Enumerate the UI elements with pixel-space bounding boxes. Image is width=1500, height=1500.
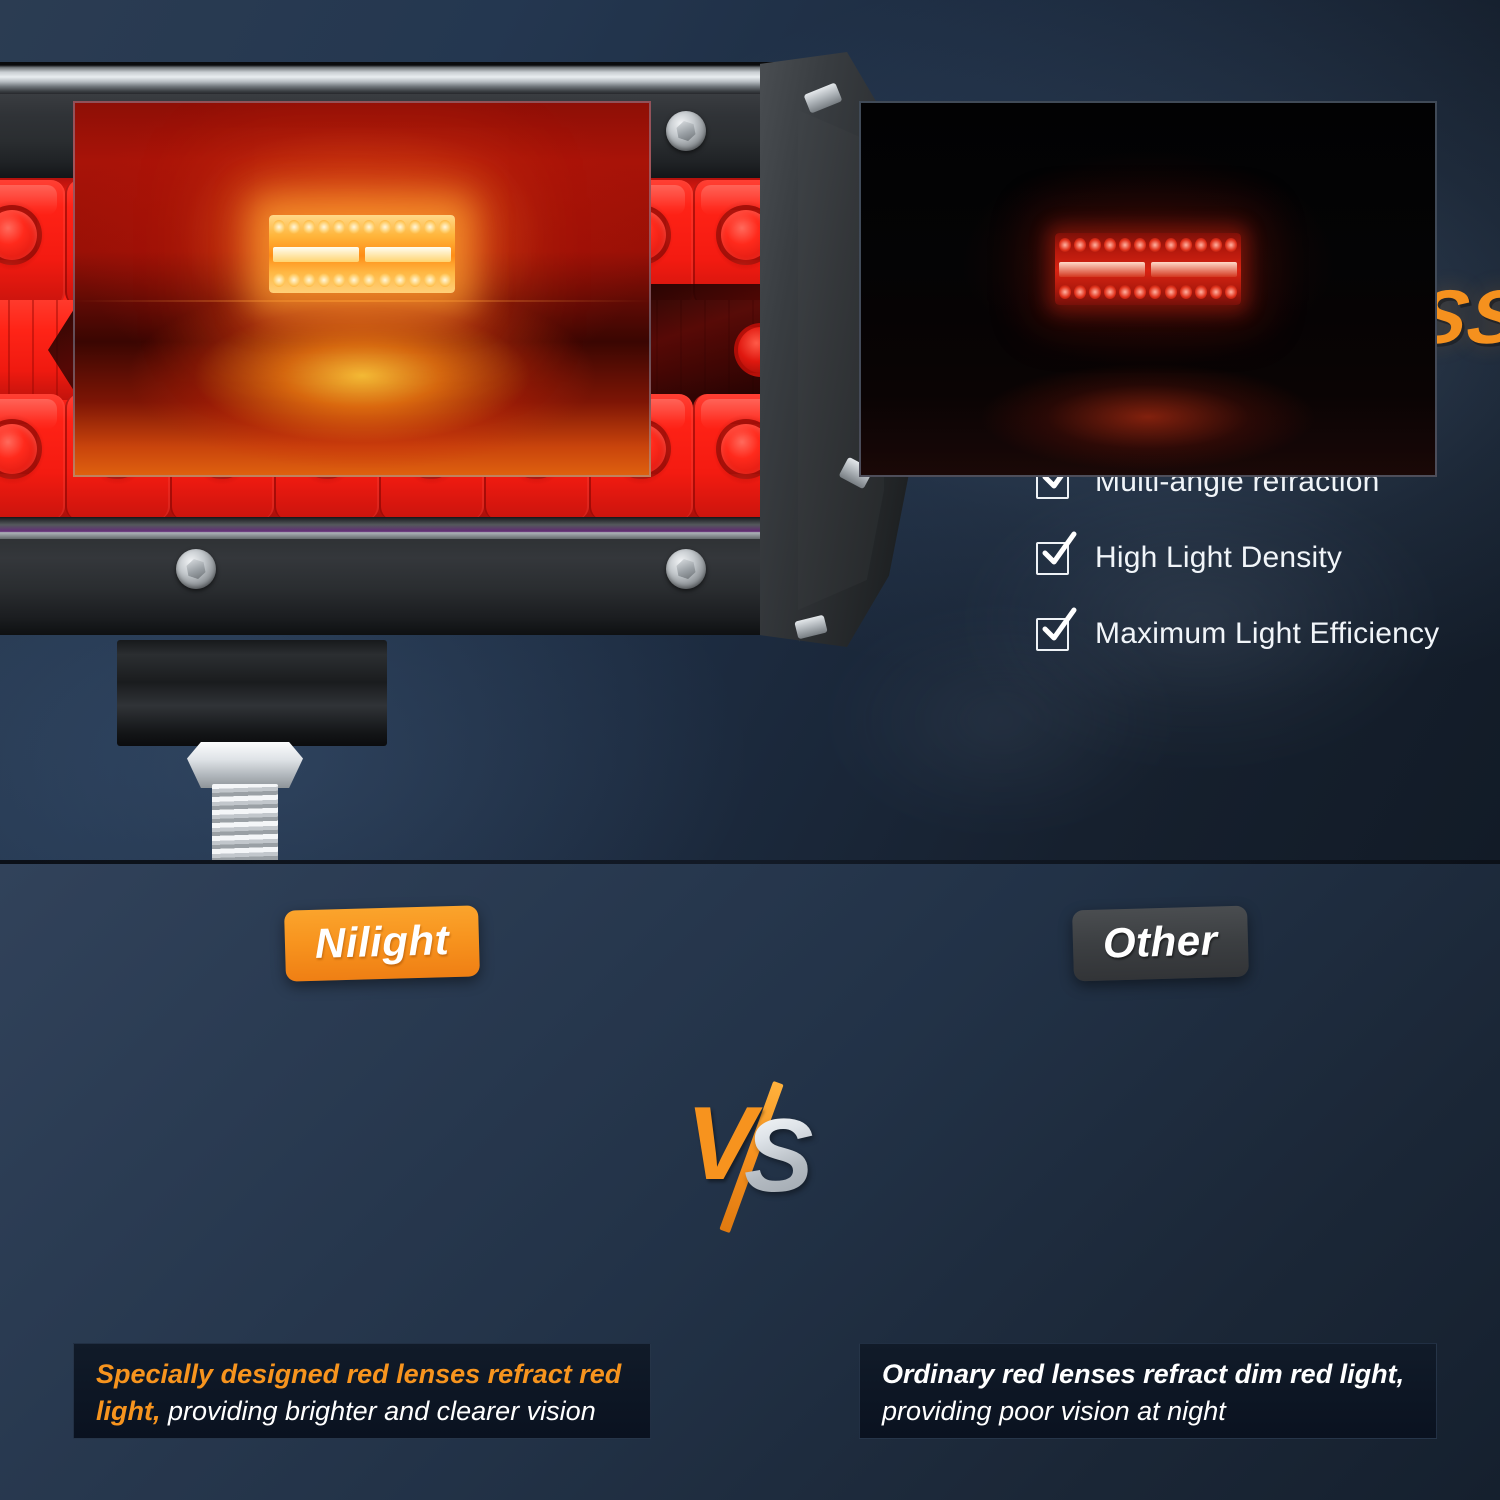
hex-nut-icon <box>187 742 303 788</box>
caption-nilight: Specially designed red lenses refract re… <box>73 1343 651 1439</box>
badge-nilight: Nilight <box>284 905 480 981</box>
caption-other: Ordinary red lenses refract dim red ligh… <box>859 1343 1437 1439</box>
light-bar-core <box>1055 233 1241 305</box>
checkbox-checked-icon <box>1036 618 1069 651</box>
led-center-row <box>273 247 451 262</box>
led-dot-row <box>273 273 451 288</box>
led-center-row <box>1059 262 1237 277</box>
light-bar-in-scene <box>269 215 455 293</box>
caption-plain-text: providing brighter and clearer vision <box>160 1396 595 1426</box>
feature-label: High Light Density <box>1095 541 1342 575</box>
threaded-bolt <box>212 784 278 862</box>
led-dot-row <box>1059 238 1237 253</box>
checkbox-checked-icon <box>1036 542 1069 575</box>
led-dot-row <box>273 220 451 235</box>
versus-graphic: V S <box>690 1090 820 1220</box>
feature-checklist: Multi-angle refraction High Light Densit… <box>1036 455 1476 683</box>
feature-item: High Light Density <box>1036 531 1476 585</box>
feature-label: Maximum Light Efficiency <box>1095 617 1439 651</box>
light-bar-core <box>269 215 455 293</box>
badge-other: Other <box>1072 906 1248 982</box>
hex-screw-icon <box>176 549 216 589</box>
comparison-panel-nilight <box>73 101 651 477</box>
hex-screw-icon <box>666 111 706 151</box>
caption-strong-text: Ordinary red lenses refract dim red ligh… <box>882 1359 1404 1389</box>
hex-screw-icon <box>666 549 706 589</box>
led-lens-cell <box>0 180 65 306</box>
feature-item: Maximum Light Efficiency <box>1036 607 1476 661</box>
bar-chrome-trim-top <box>0 62 805 96</box>
light-bar-in-scene <box>1055 233 1241 305</box>
mounting-foot <box>117 640 387 746</box>
caption-plain-text: providing poor vision at night <box>882 1396 1226 1426</box>
led-dot-row <box>1059 285 1237 300</box>
comparison-panel-other <box>859 101 1437 477</box>
product-marketing-page: BRIGHTNESS Multi-angle refraction High L… <box>0 0 1500 1500</box>
versus-letter-s: S <box>744 1104 813 1208</box>
led-lens-cell <box>0 394 65 520</box>
